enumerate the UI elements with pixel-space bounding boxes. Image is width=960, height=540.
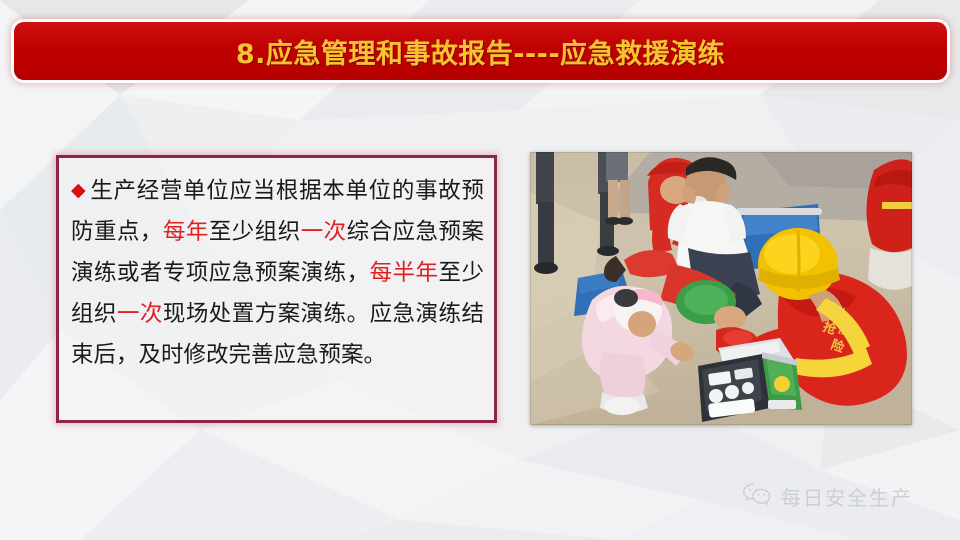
wechat-icon	[742, 482, 772, 511]
content-paragraph: ◆生产经营单位应当根据本单位的事故预防重点，每年至少组织一次综合应急预案演练或者…	[71, 170, 484, 376]
content-segment-6-highlight: 每半年	[370, 260, 439, 286]
content-segment-4-highlight: 一次	[301, 219, 347, 245]
watermark: 每日安全生产	[742, 482, 913, 511]
rescue-drill-photo: 消 防 抢 险	[530, 152, 912, 425]
content-segment-3: 至少组织	[209, 219, 301, 245]
diamond-bullet-icon: ◆	[71, 179, 86, 201]
slide-canvas: 8.应急管理和事故报告----应急救援演练 ◆生产经营单位应当根据本单位的事故预…	[0, 0, 960, 540]
content-segment-8-highlight: 一次	[117, 301, 163, 327]
page-title: 8.应急管理和事故报告----应急救援演练	[236, 32, 725, 71]
slide-title-bar: 8.应急管理和事故报告----应急救援演练	[14, 22, 947, 80]
content-segment-2-highlight: 每年	[163, 219, 209, 245]
content-text-box: ◆生产经营单位应当根据本单位的事故预防重点，每年至少组织一次综合应急预案演练或者…	[56, 155, 497, 423]
watermark-label: 每日安全生产	[781, 482, 913, 511]
